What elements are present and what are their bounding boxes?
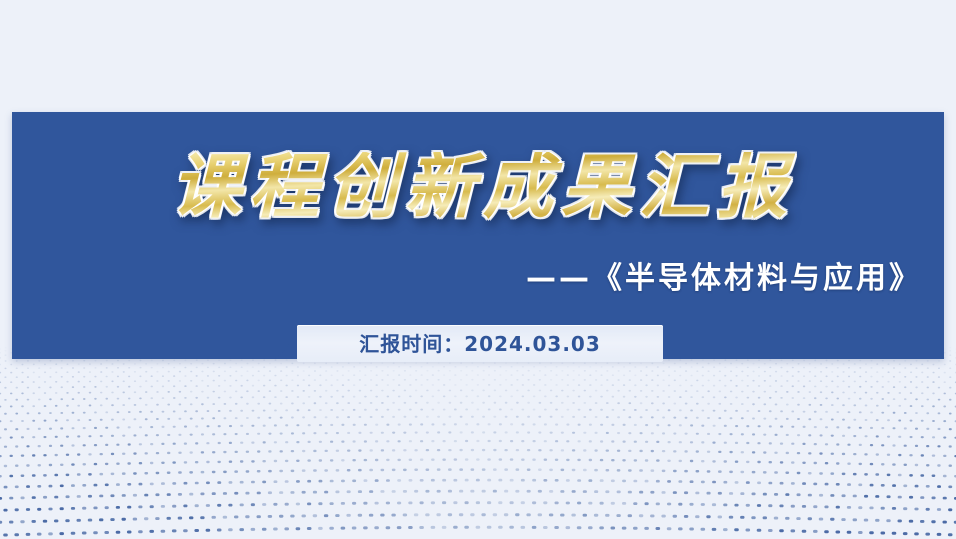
dot-grid-decoration — [0, 339, 956, 539]
report-date-label: 汇报时间：2024.03.03 — [359, 334, 601, 354]
subtitle-container: ——《半导体材料与应用》 — [12, 262, 944, 295]
title-container: 课程创新成果汇报 — [12, 152, 944, 222]
page-title: 课程创新成果汇报 — [161, 152, 795, 222]
presentation-title-slide: 课程创新成果汇报 ——《半导体材料与应用》 汇报时间：2024.03.03 — [0, 0, 956, 539]
course-subtitle: ——《半导体材料与应用》 — [526, 262, 922, 295]
date-ribbon: 汇报时间：2024.03.03 — [297, 325, 663, 362]
